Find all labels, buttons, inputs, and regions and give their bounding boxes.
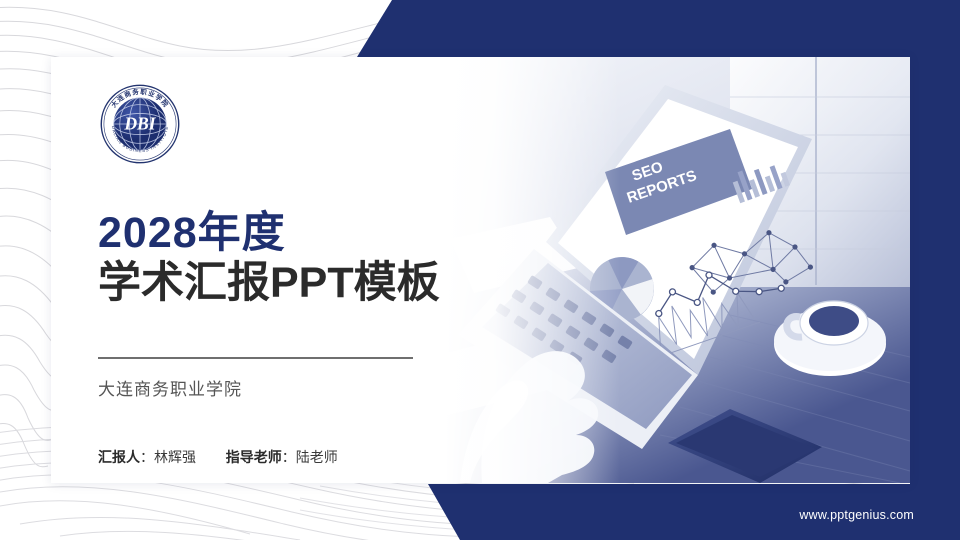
presenter-label: 汇报人 — [98, 449, 140, 465]
title-divider — [98, 357, 413, 359]
title-block: DBI 大连商务职业学院 DALIAN BUSINESS INSTITUTE 2… — [96, 57, 496, 483]
year-heading: 2028年度 — [98, 212, 286, 255]
presenter-separator: ： — [140, 449, 154, 465]
svg-text:DBI: DBI — [123, 113, 156, 133]
advisor-separator: ： — [282, 449, 296, 465]
content-card: SEO REPORTS — [51, 57, 910, 483]
university-logo-icon: DBI 大连商务职业学院 DALIAN BUSINESS INSTITUTE — [96, 80, 184, 168]
school-name: 大连商务职业学院 — [98, 375, 242, 400]
presenter-line: 汇报人：林辉强 指导老师：陆老师 — [98, 447, 338, 467]
page-title: 学术汇报PPT模板 — [98, 262, 440, 305]
website-url[interactable]: www.pptgenius.com — [799, 508, 914, 522]
presentation-slide: SEO REPORTS — [0, 0, 960, 540]
presenter-name: 林辉强 — [154, 449, 196, 465]
hero-photo: SEO REPORTS — [430, 57, 910, 483]
advisor-label: 指导老师 — [226, 449, 282, 465]
advisor-name: 陆老师 — [296, 449, 338, 465]
